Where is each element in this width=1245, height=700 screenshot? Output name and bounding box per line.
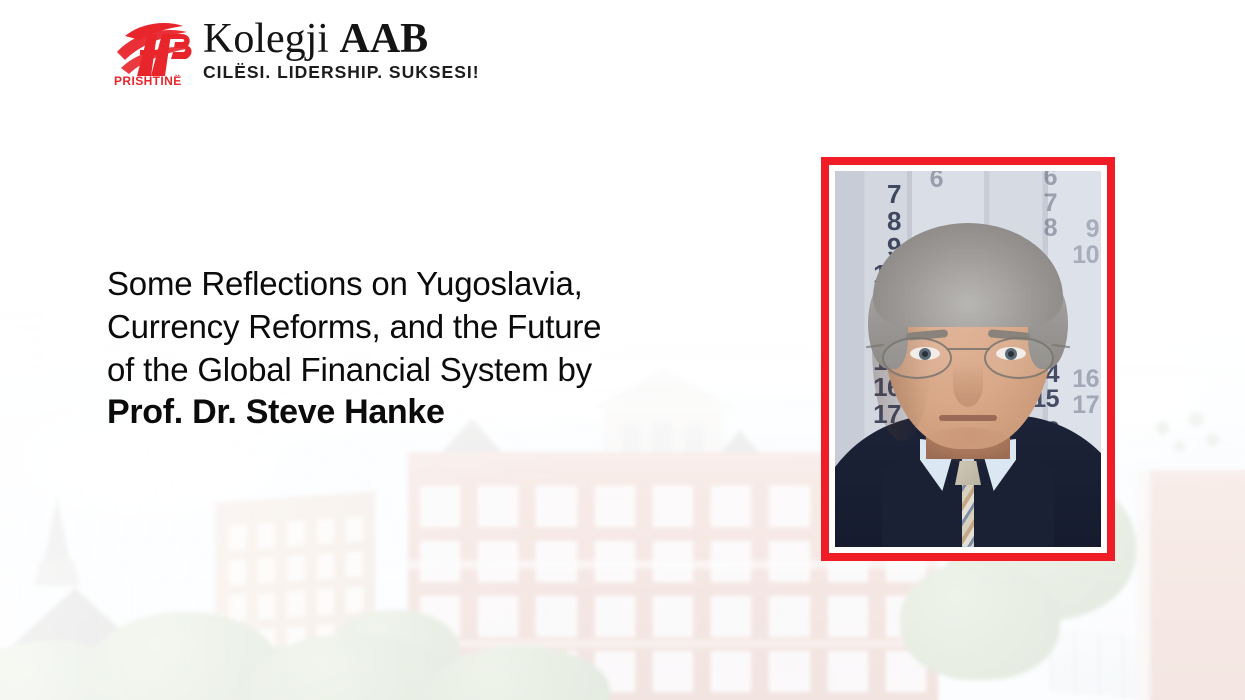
lens-right [984, 337, 1054, 379]
brand-tagline: CILËSI. LIDERSHIP. SUKSESI! [203, 62, 480, 82]
brand-name: Kolegji AAB [203, 17, 480, 61]
speaker-portrait-photo: 6 6 7 8 9 10 7 8 9 10 11 14 15 16 17 18 … [835, 171, 1101, 547]
brand-name-light: Kolegji [203, 16, 329, 62]
slide-canvas: PRISHTINË Kolegji AAB CILËSI. LIDERSHIP.… [0, 0, 1245, 700]
aab-emblem-icon: PRISHTINË [107, 14, 199, 90]
title-line-2: Currency Reforms, and the Future [107, 305, 727, 348]
speaker-portrait-frame: 6 6 7 8 9 10 7 8 9 10 11 14 15 16 17 18 … [821, 157, 1115, 561]
brand-name-bold: AAB [339, 16, 428, 62]
lens-left [882, 337, 952, 379]
hair-top [873, 223, 1063, 327]
title-line-1: Some Reflections on Yugoslavia, [107, 262, 727, 305]
portrait-mat: 6 6 7 8 9 10 7 8 9 10 11 14 15 16 17 18 … [829, 165, 1107, 553]
event-title: Some Reflections on Yugoslavia, Currency… [107, 262, 727, 434]
speaker-figure [835, 171, 1101, 547]
brand-wordmark: Kolegji AAB CILËSI. LIDERSHIP. SUKSESI! [203, 14, 480, 82]
speaker-name: Prof. Dr. Steve Hanke [107, 391, 727, 434]
logo-city-label: PRISHTINË [114, 74, 182, 88]
glasses-bridge [948, 348, 990, 350]
brand-logo[interactable]: PRISHTINË Kolegji AAB CILËSI. LIDERSHIP.… [107, 14, 480, 90]
nose [953, 363, 983, 407]
title-line-3: of the Global Financial System by [107, 348, 727, 391]
mouth [939, 415, 997, 421]
chin [920, 427, 1016, 465]
